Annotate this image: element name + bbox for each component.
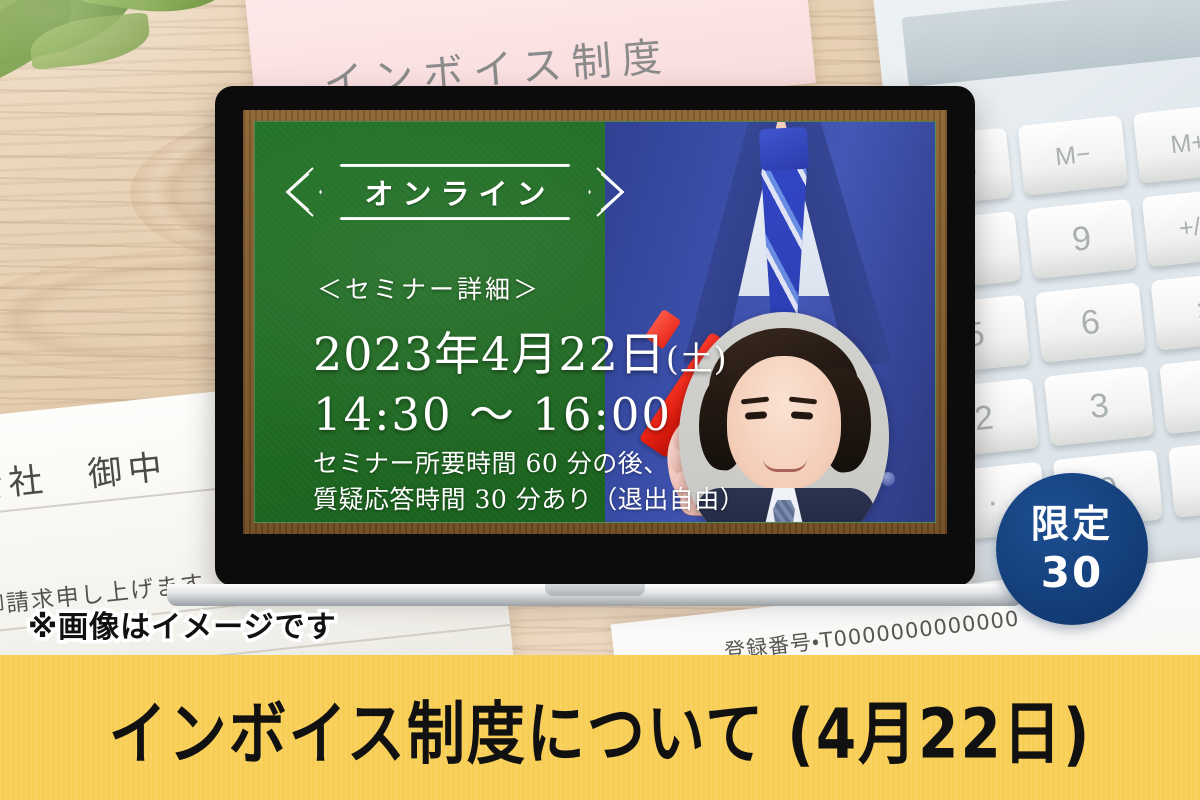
bottom-title-banner: インボイス制度について (4月22日)	[0, 655, 1200, 800]
calculator-key: +/−	[1142, 187, 1200, 267]
calculator-key: 9	[1026, 199, 1137, 279]
chalkboard-text-content: オンライン ＜セミナー詳細＞ 2023年4月22日(土) 14:30 ～ 16:…	[255, 122, 935, 522]
chalkboard-surface: オンライン ＜セミナー詳細＞ 2023年4月22日(土) 14:30 ～ 16:…	[254, 121, 936, 523]
seminar-note-line1: セミナー所要時間 60 分の後、	[313, 444, 669, 480]
seminar-date-text: 2023年4月22日	[313, 327, 666, 381]
seminar-weekday-text: (土)	[666, 339, 728, 378]
calculator-key: M−	[1018, 115, 1129, 195]
laptop-lid: オンライン ＜セミナー詳細＞ 2023年4月22日(土) 14:30 ～ 16:…	[215, 86, 975, 586]
laptop-device: オンライン ＜セミナー詳細＞ 2023年4月22日(土) 14:30 ～ 16:…	[215, 86, 975, 586]
seminar-date: 2023年4月22日(土)	[313, 318, 728, 384]
ribbon-label: オンライン	[319, 164, 591, 220]
seminar-note-line2: 質疑応答時間 30 分あり（退出自由）	[313, 480, 745, 516]
calculator-key: +	[1159, 354, 1200, 434]
calculator-display	[902, 0, 1200, 87]
laptop-screen: オンライン ＜セミナー詳細＞ 2023年4月22日(土) 14:30 ～ 16:…	[243, 110, 947, 534]
calculator-key: =	[1168, 437, 1200, 517]
badge-count: 30	[1041, 552, 1103, 594]
calculator-key: ×	[1150, 270, 1200, 350]
calculator-key: 6	[1035, 282, 1146, 362]
chalkboard-wooden-frame: オンライン ＜セミナー詳細＞ 2023年4月22日(土) 14:30 ～ 16:…	[243, 110, 947, 534]
seminar-detail-heading: ＜セミナー詳細＞	[317, 270, 541, 306]
limited-seats-badge: 限定 30	[996, 473, 1148, 625]
calculator-key: M+	[1133, 103, 1200, 183]
laptop-hinge-notch	[545, 584, 645, 596]
calculator-key: 3	[1044, 366, 1155, 446]
online-ribbon-banner: オンライン	[279, 164, 631, 220]
image-disclaimer-note: ※画像はイメージです	[28, 602, 337, 646]
seminar-banner-image: RM M− M+ 8 9 +/− 5 6 × 2 3 + · 0 = インボイス…	[0, 0, 1200, 800]
seminar-time: 14:30 ～ 16:00	[313, 378, 672, 443]
badge-label: 限定	[1031, 505, 1113, 543]
invoice-recipient-text: 会社 御中	[0, 439, 170, 509]
banner-title: インボイス制度について (4月22日)	[109, 678, 1092, 777]
